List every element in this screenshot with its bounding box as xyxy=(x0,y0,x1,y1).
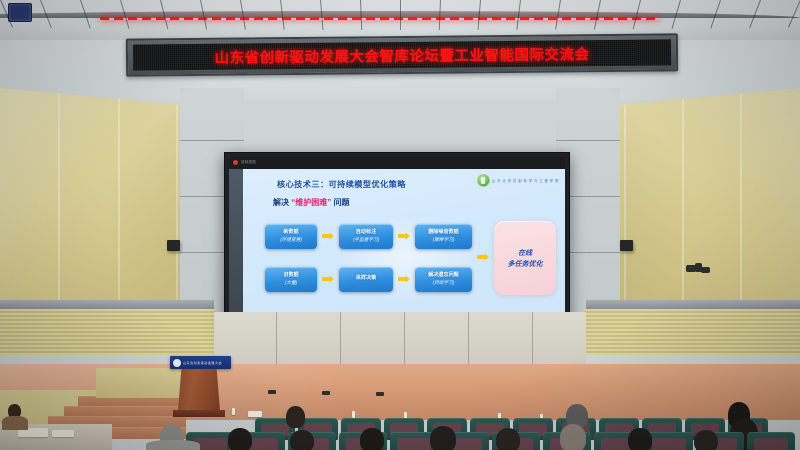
podium-body xyxy=(178,369,220,411)
floor-light-3 xyxy=(376,392,384,396)
ceiling-rib xyxy=(788,0,800,28)
right-wall-light-icon xyxy=(620,240,633,251)
flow-box-old-data: 旧数据 (大量) xyxy=(265,267,317,292)
slide-canvas: 核心技术三：可持续模型优化策略 解决 “维护困难” 问题 山 东 大 学 控 制… xyxy=(243,169,565,334)
left-louvered-wall xyxy=(0,309,216,355)
person-shoulders xyxy=(2,416,28,430)
flow-box-label: 解决遗忘问题 xyxy=(428,273,459,279)
audience-head xyxy=(560,424,586,450)
desk-paper-2 xyxy=(52,430,74,437)
flow-box-label: 旧数据 xyxy=(283,273,298,279)
flow-box-sublabel: (环境变更) xyxy=(280,237,302,242)
audience-shoulders xyxy=(146,440,200,450)
record-dot-icon xyxy=(233,160,238,165)
floor-light-1 xyxy=(268,390,276,394)
flow-box-label: 自动标注 xyxy=(356,230,376,236)
flow-box-label: 删除噪音数据 xyxy=(428,230,459,236)
left-wall-light-icon xyxy=(167,240,180,251)
flow-box-auto-annotation: 自动标注 (半监督学习) xyxy=(339,224,393,249)
flow-box-sublabel: (半监督学习) xyxy=(353,237,380,242)
slide-subtitle-post: 问题 xyxy=(331,198,349,207)
podium-sign: 山东省创新驱动发展大会 xyxy=(170,356,231,369)
audience-head xyxy=(628,428,652,450)
presentation-topbar: 放映视图 xyxy=(229,157,565,169)
university-logo: 山 东 大 学 控 制 科 学 与 工 程 学 院 xyxy=(477,174,559,187)
presentation-sidebar[interactable] xyxy=(229,169,243,334)
audience-head xyxy=(430,426,456,450)
podium-sign-text: 山东省创新驱动发展大会 xyxy=(183,361,222,365)
podium: 山东省创新驱动发展大会 xyxy=(172,356,226,420)
flow-box-sublabel: (摩棒学习) xyxy=(433,237,455,242)
led-banner-screen: 山东省创新驱动发展大会智库论坛暨工业智能国际交流会 xyxy=(133,39,671,70)
presentation-topbar-label: 放映视图 xyxy=(241,160,256,165)
podium-base xyxy=(173,410,225,417)
led-banner: 山东省创新驱动发展大会智库论坛暨工业智能国际交流会 xyxy=(126,33,678,76)
led-banner-text: 山东省创新驱动发展大会智库论坛暨工业智能国际交流会 xyxy=(214,43,589,68)
table-mic-1 xyxy=(232,408,235,415)
audience-head xyxy=(286,406,305,428)
right-wall-trim xyxy=(586,300,800,309)
flow-box-sublabel: (持续学习) xyxy=(433,280,455,285)
slide-subtitle: 解决 “维护困难” 问题 xyxy=(273,197,349,208)
stage-back-panel xyxy=(214,312,586,368)
flow-box-sublabel: (大量) xyxy=(285,280,298,285)
right-louvered-wall xyxy=(584,309,800,355)
ceiling-led-strip xyxy=(100,17,660,20)
audience-head xyxy=(360,428,384,450)
slide-subtitle-pre: 解决 xyxy=(273,198,291,207)
university-logo-text: 山 东 大 学 控 制 科 学 与 工 程 学 院 xyxy=(492,178,559,183)
stage-paper xyxy=(248,411,262,417)
flow-result-online-multitask: 在线 多任务优化 xyxy=(494,221,556,295)
flow-box-denoise: 删除噪音数据 (摩棒学习) xyxy=(415,224,472,249)
flow-box-new-data: 新数据 (环境变更) xyxy=(265,224,317,249)
podium-emblem-icon xyxy=(173,359,181,367)
left-wall-trim xyxy=(0,300,214,309)
slide-subtitle-highlight: “维护困难” xyxy=(291,198,331,207)
wall-speaker-icon xyxy=(8,3,32,22)
ceiling-rib xyxy=(400,0,401,30)
floor-light-2 xyxy=(322,391,330,395)
flow-result-label-1: 在线 xyxy=(518,248,532,258)
audience-head xyxy=(694,430,718,450)
flow-box-forgetting: 解决遗忘问题 (持续学习) xyxy=(415,267,472,292)
flow-result-label-2: 多任务优化 xyxy=(508,259,543,269)
ceiling-camera-icon xyxy=(686,262,712,276)
university-emblem-icon xyxy=(477,174,490,187)
table-mic-2 xyxy=(352,411,355,418)
audience-head xyxy=(228,428,252,450)
flow-box-label: 采样决策 xyxy=(356,276,376,282)
slide-title: 核心技术三：可持续模型优化策略 xyxy=(277,178,406,190)
audience-head xyxy=(496,428,520,450)
auditorium-photo: 山东省创新驱动发展大会智库论坛暨工业智能国际交流会 xyxy=(0,0,800,450)
flow-box-sampling-decision: 采样决策 xyxy=(339,267,393,292)
flow-box-label: 新数据 xyxy=(283,230,298,236)
audience-head xyxy=(290,430,314,450)
